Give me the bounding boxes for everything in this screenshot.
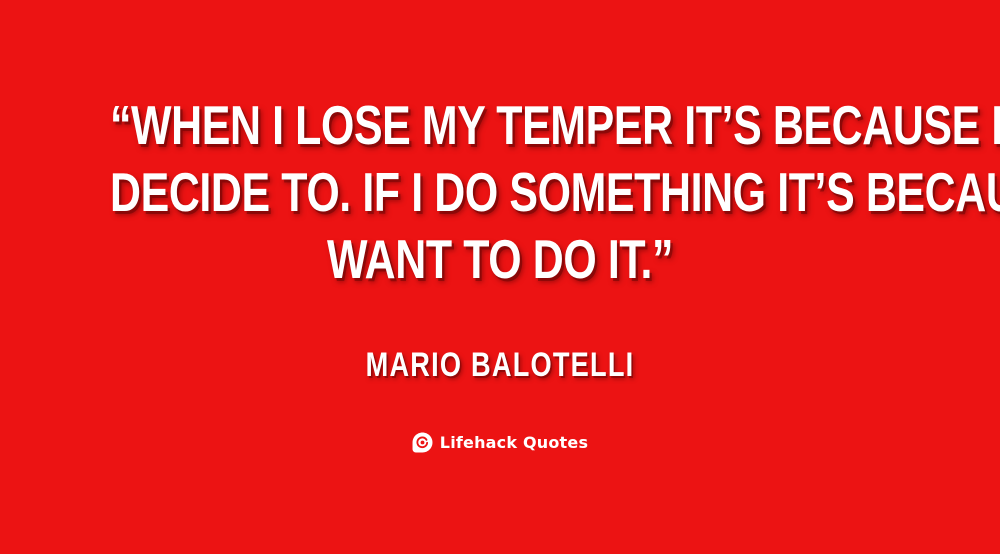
- footer-branding: Lifehack Quotes: [0, 432, 1000, 453]
- quote-card: “WHEN I LOSE MY TEMPER IT’S BECAUSE I DE…: [0, 0, 1000, 554]
- quote-line-1: “WHEN I LOSE MY TEMPER IT’S BECAUSE I: [110, 92, 890, 159]
- quote-line-3: WANT TO DO IT.”: [110, 226, 890, 293]
- quote-line-2: DECIDE TO. IF I DO SOMETHING IT’S BECAUS…: [110, 159, 890, 226]
- quote-text-block: “WHEN I LOSE MY TEMPER IT’S BECAUSE I DE…: [0, 92, 1000, 293]
- footer-brand-label: Lifehack Quotes: [440, 432, 588, 453]
- lifehack-circle-logo-icon: [412, 432, 433, 453]
- quote-author: MARIO BALOTELLI: [100, 345, 900, 385]
